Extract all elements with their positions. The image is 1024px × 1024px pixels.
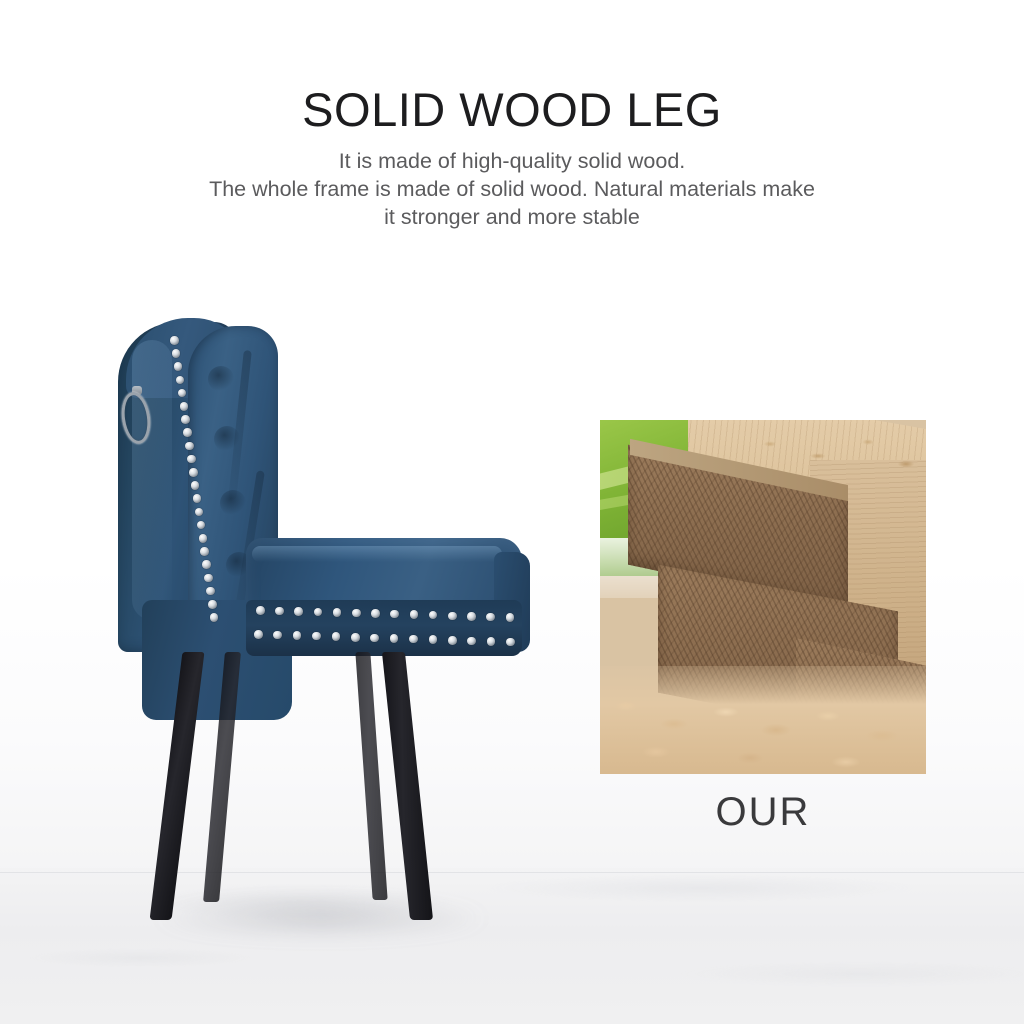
description-line-1: It is made of high-quality solid wood. xyxy=(62,147,962,175)
nailhead-stud xyxy=(199,534,208,543)
nailhead-stud xyxy=(487,637,496,646)
feature-description: It is made of high-quality solid wood. T… xyxy=(62,147,962,231)
nailhead-stud xyxy=(185,442,194,451)
nailhead-stud xyxy=(352,609,361,618)
nailhead-stud xyxy=(189,468,198,477)
nailhead-stud xyxy=(254,630,263,639)
nailhead-stud xyxy=(181,415,190,424)
nailhead-stud xyxy=(180,402,189,411)
nailhead-stud xyxy=(204,574,213,583)
page-title: SOLID WOOD LEG xyxy=(0,86,1024,133)
nailhead-stud xyxy=(506,613,515,622)
nailhead-stud xyxy=(506,638,515,647)
nailhead-stud xyxy=(187,455,196,464)
nailhead-stud xyxy=(410,610,419,619)
nailhead-stud xyxy=(370,634,379,643)
nailhead-stud xyxy=(172,349,181,358)
nailhead-stud xyxy=(293,631,302,640)
nailhead-stud xyxy=(202,560,211,569)
wood-material-photo xyxy=(600,420,926,774)
chair-leg-front xyxy=(382,652,433,920)
nailhead-stud xyxy=(191,481,200,490)
nailhead-stud xyxy=(390,634,399,643)
product-feature-banner: SOLID WOOD LEG It is made of high-qualit… xyxy=(0,0,1024,1024)
nailhead-stud xyxy=(183,428,192,437)
tufting-button xyxy=(208,366,234,392)
nailhead-stud xyxy=(294,607,303,616)
chair-backrest-highlight xyxy=(132,340,172,620)
nailhead-stud xyxy=(351,633,360,642)
nailhead-stud xyxy=(371,609,380,618)
nailhead-stud xyxy=(208,600,217,609)
nailhead-stud xyxy=(486,613,495,622)
nailhead-stud xyxy=(273,631,282,640)
nailhead-stud xyxy=(333,608,342,617)
product-photo-bar-stool xyxy=(96,300,516,960)
nailhead-stud xyxy=(448,636,457,645)
nailhead-stud xyxy=(170,336,179,345)
nailhead-stud xyxy=(256,606,265,615)
nailhead-stud xyxy=(448,612,457,621)
nailhead-stud xyxy=(409,635,418,644)
chair-seat-skirt xyxy=(246,600,522,656)
nailhead-stud xyxy=(210,613,219,622)
seat-highlight xyxy=(252,546,502,562)
description-line-3: it stronger and more stable xyxy=(62,203,962,231)
wood-shavings-pile xyxy=(600,666,926,774)
product-shadow xyxy=(156,900,486,936)
nailhead-stud xyxy=(193,494,202,503)
nailhead-stud xyxy=(206,587,215,596)
nailhead-stud xyxy=(174,362,183,371)
nailhead-stud xyxy=(332,632,341,641)
nailhead-stud xyxy=(467,637,476,646)
nailhead-stud xyxy=(429,635,438,644)
description-line-2: The whole frame is made of solid wood. N… xyxy=(62,175,962,203)
nailhead-stud xyxy=(312,632,321,641)
nailhead-stud xyxy=(467,612,476,621)
inset-caption: OUR xyxy=(600,792,926,832)
nailhead-stud xyxy=(200,547,209,556)
nailhead-stud xyxy=(275,607,284,616)
chair-leg-front-far xyxy=(355,652,387,900)
